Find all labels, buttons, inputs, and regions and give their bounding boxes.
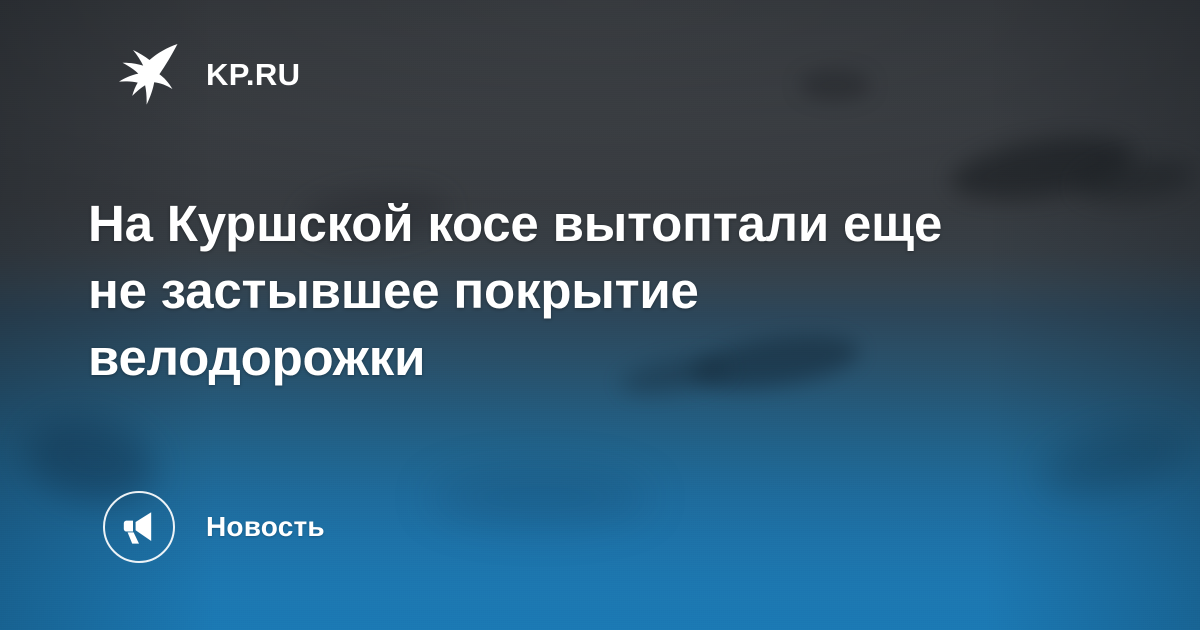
badge-circle (103, 491, 175, 563)
headline-line-2: не застывшее покрытие (88, 257, 1098, 324)
brand-logo[interactable]: KP.RU (112, 38, 300, 110)
badge-label: Новость (206, 513, 325, 541)
social-share-card: KP.RU На Куршской косе вытоптали еще не … (0, 0, 1200, 630)
card-content: KP.RU На Куршской косе вытоптали еще не … (0, 0, 1200, 630)
page-title: На Куршской косе вытоптали еще не застыв… (88, 190, 1098, 391)
megaphone-icon (119, 507, 159, 547)
swallow-bird-icon (112, 38, 184, 110)
category-badge[interactable]: Новость (103, 491, 325, 563)
headline-line-1: На Куршской косе вытоптали еще (88, 190, 1098, 257)
headline-line-3: велодорожки (88, 324, 1098, 391)
brand-name: KP.RU (206, 59, 300, 90)
